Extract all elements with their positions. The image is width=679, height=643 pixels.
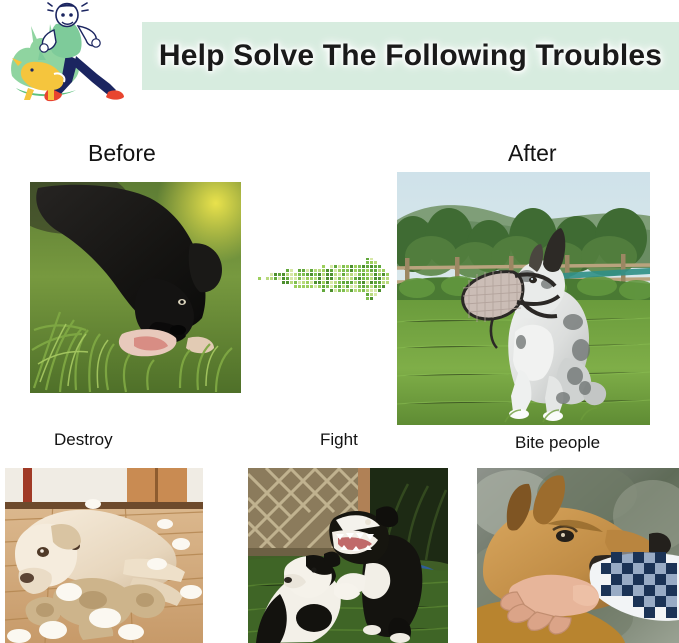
- before-label: Before: [88, 140, 156, 167]
- page-header: Help Solve The Following Troubles: [0, 0, 679, 115]
- destroy-photo: [5, 468, 203, 643]
- transition-arrow: [250, 258, 390, 300]
- running-from-dog-illustration: [4, 2, 140, 108]
- bite-people-photo: [477, 468, 679, 643]
- after-label: After: [508, 140, 557, 167]
- caption-bite-people: Bite people: [515, 433, 600, 453]
- before-photo: 0%: [30, 182, 241, 393]
- page-title: Help Solve The Following Troubles: [142, 22, 679, 90]
- after-photo: [397, 172, 650, 425]
- caption-destroy: Destroy: [54, 430, 113, 450]
- fight-photo: [248, 468, 448, 643]
- caption-fight: Fight: [320, 430, 358, 450]
- title-banner: Help Solve The Following Troubles: [142, 22, 679, 90]
